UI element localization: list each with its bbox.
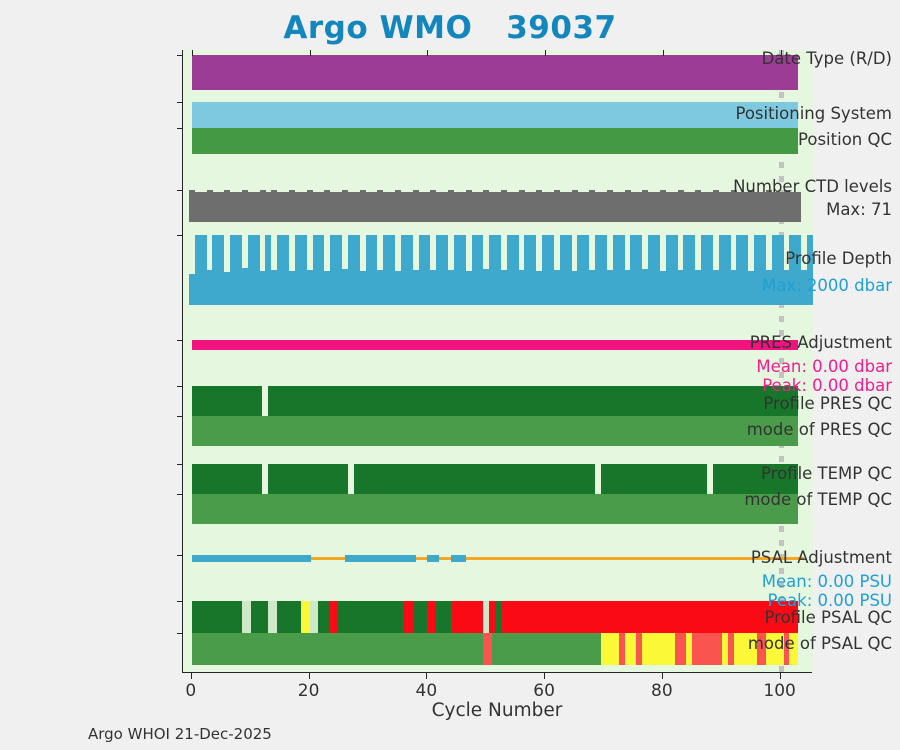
row-label-ctd-levels: Number CTD levels <box>718 177 900 196</box>
qc-segment-flag-A <box>251 601 269 633</box>
qc-segment-flag-A <box>338 601 404 633</box>
qc-segment-flag-A <box>318 601 330 633</box>
row-label-psal-adjustment-sub1: Mean: 0.00 PSU <box>718 572 900 591</box>
qc-segment-flag-F <box>427 601 436 633</box>
x-tick-40 <box>426 673 427 679</box>
row-label-psal-adjustment: PSAL Adjustment <box>718 548 900 567</box>
row-label-pres-adjustment-sub1: Mean: 0.00 dbar <box>718 357 900 376</box>
qc-segment-flag-2 <box>625 633 637 665</box>
qc-segment-flag-1 <box>192 633 483 665</box>
qc-segment-flag-2 <box>601 633 619 665</box>
qc-segment-flag-A <box>268 464 347 494</box>
x-tick-label-60: 60 <box>533 681 555 701</box>
x-toptick-0 <box>192 50 193 56</box>
qc-segment-flag-A <box>192 464 263 494</box>
qc-segment-flag-A <box>354 464 595 494</box>
row-label-profile-depth-sub1: Max: 2000 dbar <box>718 276 900 295</box>
row-label-profile-temp-qc: Profile TEMP QC <box>718 464 900 483</box>
row-label-mode-temp-qc: mode of TEMP QC <box>718 490 900 509</box>
qc-segment-flag-A <box>192 386 263 416</box>
qc-segment-flag-A <box>601 464 707 494</box>
row-label-pres-adjustment-sub2: Peak: 0.00 dbar <box>718 376 900 395</box>
psal-adjustment-block <box>451 555 466 562</box>
qc-segment-flag-A <box>277 601 301 633</box>
qc-segment-flag-4 <box>483 633 492 665</box>
x-tick-label-80: 80 <box>651 681 673 701</box>
row-label-profile-pres-qc: Profile PRES QC <box>718 394 900 413</box>
psal-adjustment-block <box>192 555 312 562</box>
qc-segment-flag-F <box>330 601 338 633</box>
x-toptick-60 <box>545 50 546 56</box>
x-tick-20 <box>309 673 310 679</box>
qc-segment-flag-A <box>436 601 451 633</box>
page-title: Argo WMO 39037 <box>0 10 900 46</box>
qc-segment-flag-A <box>192 601 242 633</box>
span-block <box>192 128 798 154</box>
x-tick-80 <box>662 673 663 679</box>
x-tick-label-40: 40 <box>416 681 438 701</box>
qc-segment-flag-C <box>301 601 310 633</box>
row-label-mode-psal-qc: mode of PSAL QC <box>718 634 900 653</box>
x-tick-label-20: 20 <box>298 681 320 701</box>
span-block <box>192 102 798 128</box>
x-axis: 020406080100 <box>182 672 812 673</box>
row-label-profile-depth: Profile Depth <box>718 249 900 268</box>
x-tick-label-0: 0 <box>185 681 196 701</box>
qc-segment-flag-missing <box>310 601 319 633</box>
qc-segment-flag-A <box>413 601 428 633</box>
qc-segment-flag-4 <box>675 633 687 665</box>
row-label-date-type: Date Type (R/D) <box>718 49 900 68</box>
x-tick-0 <box>191 673 192 679</box>
x-axis-title: Cycle Number <box>182 700 812 721</box>
psal-adjustment-block <box>427 555 439 562</box>
row-label-profile-psal-qc: Profile PSAL QC <box>718 608 900 627</box>
qc-segment-flag-F <box>404 601 413 633</box>
x-tick-label-100: 100 <box>763 681 795 701</box>
row-label-ctd-levels-sub1: Max: 71 <box>718 200 900 219</box>
qc-segment-flag-1 <box>192 494 798 524</box>
x-tick-100 <box>780 673 781 679</box>
psal-adjustment-block <box>345 555 416 562</box>
adjustment-line <box>192 340 798 350</box>
x-tick-60 <box>544 673 545 679</box>
row-label-position-qc: Position QC <box>718 130 900 149</box>
qc-segment-flag-F <box>451 601 483 633</box>
x-toptick-80 <box>663 50 664 56</box>
qc-segment-flag-missing <box>268 601 277 633</box>
x-toptick-20 <box>310 50 311 56</box>
span-block <box>192 55 798 90</box>
x-toptick-40 <box>427 50 428 56</box>
row-label-pres-adjustment: PRES Adjustment <box>718 333 900 352</box>
row-label-positioning-system: Positioning System <box>718 104 900 123</box>
qc-segment-flag-1 <box>492 633 601 665</box>
argo-float-figure: Argo WMO 39037 Date Type (R/D)Positionin… <box>0 0 900 750</box>
qc-segment-flag-1 <box>192 416 798 446</box>
row-label-mode-pres-qc: mode of PRES QC <box>718 420 900 439</box>
footer-credit: Argo WHOI 21-Dec-2025 <box>88 725 272 743</box>
qc-segment-flag-2 <box>642 633 674 665</box>
qc-segment-flag-missing <box>242 601 251 633</box>
